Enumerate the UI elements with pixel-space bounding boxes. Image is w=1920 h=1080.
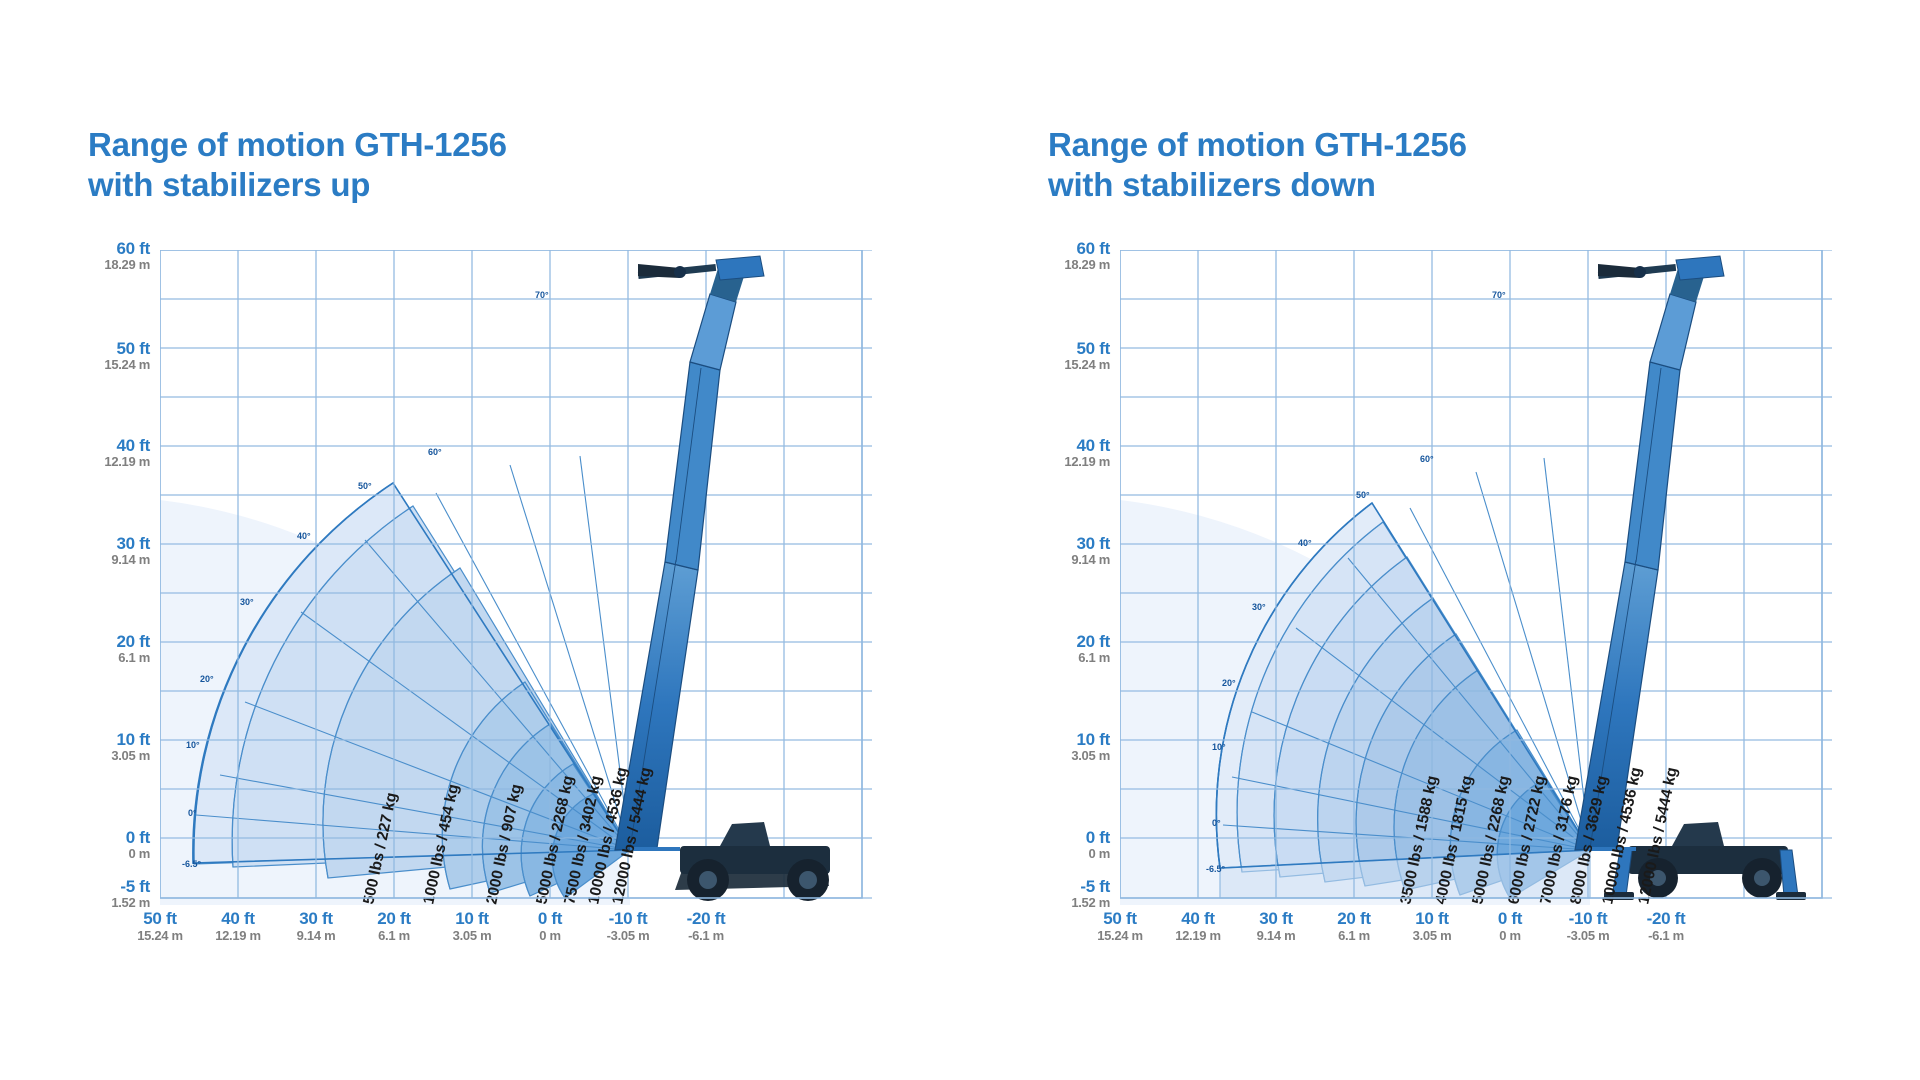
y-tick-60ft: 60 ft18.29 m [30,240,150,271]
y-tick-neg5ft: -5 ft1.52 m [30,878,150,909]
chart-panel-stabilizers-up: Range of motion GTH-1256 with stabilizer… [0,0,960,1080]
angle-label-30: 30° [240,597,254,607]
plot-area-stabilizers-up: 60 ft18.29 m 50 ft15.24 m 40 ft12.19 m 3… [160,250,872,905]
y-tick-30ft: 30 ft9.14 m [990,535,1110,566]
y-tick-0ft: 0 ft0 m [990,829,1110,860]
y-tick-10ft: 10 ft3.05 m [990,731,1110,762]
angle-label-0: 0° [188,808,197,818]
range-diagram-stabilizers-up: 500 lbs / 227 kg 1000 lbs / 454 kg 2000 … [160,250,872,905]
angle-label-0: 0° [1212,818,1221,828]
angle-label-60: 60° [428,447,442,457]
y-tick-40ft: 40 ft12.19 m [30,437,150,468]
angle-label-20: 20° [1222,678,1236,688]
angle-label-50: 50° [358,481,372,491]
x-tick-neg20ft: -20 ft-6.1 m [1611,910,1721,942]
angle-label-10: 10° [186,740,200,750]
angle-label-40: 40° [1298,538,1312,548]
angle-label-70: 70° [1492,290,1506,300]
y-tick-20ft: 20 ft6.1 m [990,633,1110,664]
y-tick-40ft: 40 ft12.19 m [990,437,1110,468]
y-tick-0ft: 0 ft0 m [30,829,150,860]
range-diagram-stabilizers-down: 3500 lbs / 1588 kg 4000 lbs / 1815 kg 50… [1120,250,1832,905]
x-axis-labels-stabilizers-down: 50 ft15.24 m 40 ft12.19 m 30 ft9.14 m 20… [1120,910,1832,970]
y-tick-60ft: 60 ft18.29 m [990,240,1110,271]
y-tick-neg5ft: -5 ft1.52 m [990,878,1110,909]
angle-label-neg6-5: -6.5° [182,859,202,869]
plot-area-stabilizers-down: 60 ft18.29 m 50 ft15.24 m 40 ft12.19 m 3… [1120,250,1832,905]
angle-label-50: 50° [1356,490,1370,500]
y-tick-10ft: 10 ft3.05 m [30,731,150,762]
angle-label-70: 70° [535,290,549,300]
chart-panel-stabilizers-down: Range of motion GTH-1256 with stabilizer… [960,0,1920,1080]
angle-label-20: 20° [200,674,214,684]
angle-label-30: 30° [1252,602,1266,612]
range-of-motion-figure: Range of motion GTH-1256 with stabilizer… [0,0,1920,1080]
y-tick-20ft: 20 ft6.1 m [30,633,150,664]
angle-label-neg6-5: -6.5° [1206,864,1226,874]
angle-label-40: 40° [297,531,311,541]
chart-title-stabilizers-up: Range of motion GTH-1256 with stabilizer… [88,125,507,206]
chart-title-stabilizers-down: Range of motion GTH-1256 with stabilizer… [1048,125,1467,206]
x-tick-neg20ft: -20 ft-6.1 m [651,910,761,942]
y-tick-50ft: 50 ft15.24 m [30,340,150,371]
angle-label-10: 10° [1212,742,1226,752]
x-axis-labels-stabilizers-up: 50 ft15.24 m 40 ft12.19 m 30 ft9.14 m 20… [160,910,872,970]
angle-label-60: 60° [1420,454,1434,464]
y-tick-50ft: 50 ft15.24 m [990,340,1110,371]
y-tick-30ft: 30 ft9.14 m [30,535,150,566]
